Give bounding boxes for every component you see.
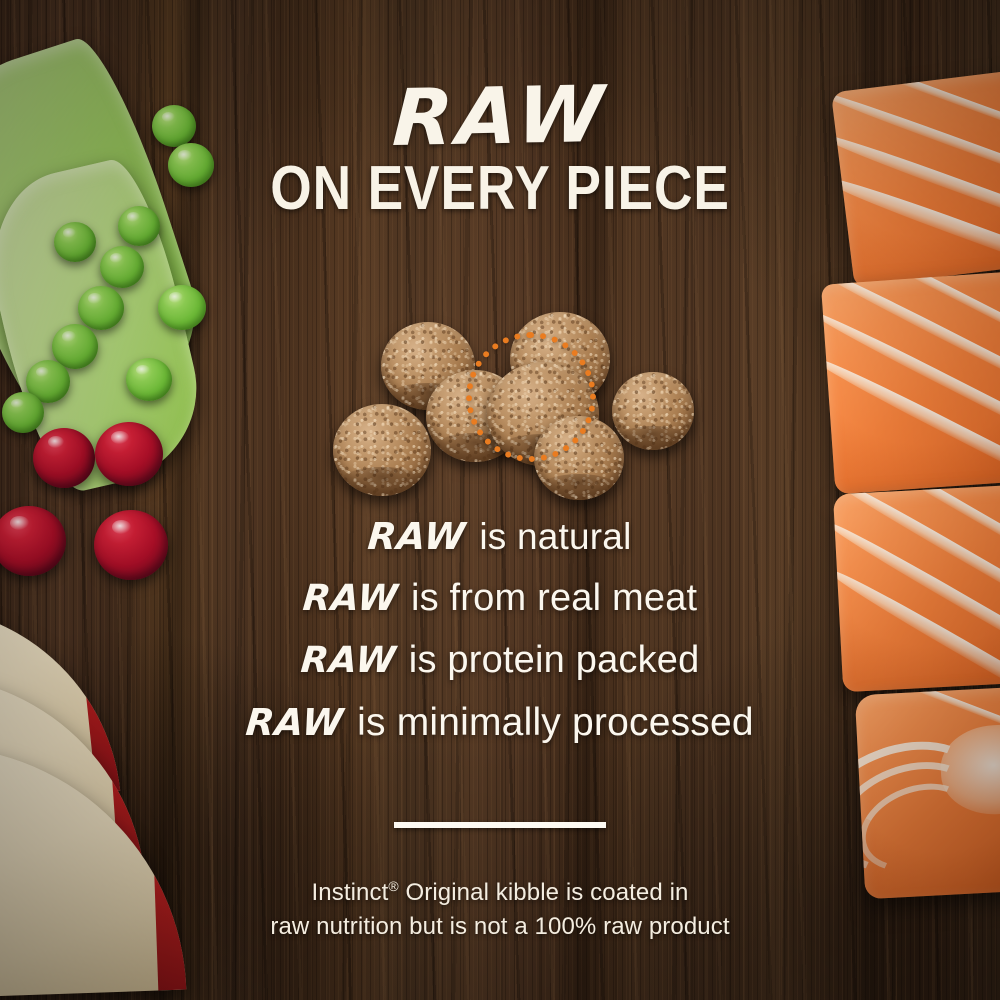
- footnote-line-2: raw nutrition but is not a 100% raw prod…: [0, 910, 1000, 944]
- claim-item: RAW is from real meat: [0, 579, 1000, 617]
- raw-on-every-piece-infographic: RAW ON EVERY PIECE RAW is natural RAW is…: [0, 0, 1000, 1000]
- claim-item: RAW is natural: [0, 518, 1000, 555]
- claim-list: RAW is natural RAW is from real meat RAW…: [0, 518, 1000, 742]
- claim-script-word: RAW: [367, 518, 468, 555]
- footnote: Instinct® Original kibble is coated in r…: [0, 876, 1000, 944]
- footnote-line-1-rest: Original kibble is coated in: [399, 879, 689, 906]
- brand-name: Instinct: [312, 879, 389, 906]
- claim-text: is minimally processed: [357, 703, 754, 742]
- claim-script-word: RAW: [299, 643, 397, 679]
- headline-script-word: RAW: [0, 72, 1000, 163]
- footnote-line-1: Instinct® Original kibble is coated in: [0, 876, 1000, 910]
- claim-script-word: RAW: [245, 704, 346, 741]
- claim-text: is natural: [479, 518, 631, 555]
- claim-item: RAW is protein packed: [0, 641, 1000, 679]
- headline-subline: ON EVERY PIECE: [70, 158, 930, 220]
- white-rule-divider: [394, 822, 606, 828]
- claim-text: is protein packed: [409, 641, 700, 679]
- registered-trademark-icon: ®: [388, 878, 398, 894]
- claim-script-word: RAW: [301, 581, 399, 617]
- claim-item: RAW is minimally processed: [0, 703, 1000, 742]
- headline: RAW ON EVERY PIECE: [0, 82, 1000, 220]
- claim-text: is from real meat: [411, 579, 697, 617]
